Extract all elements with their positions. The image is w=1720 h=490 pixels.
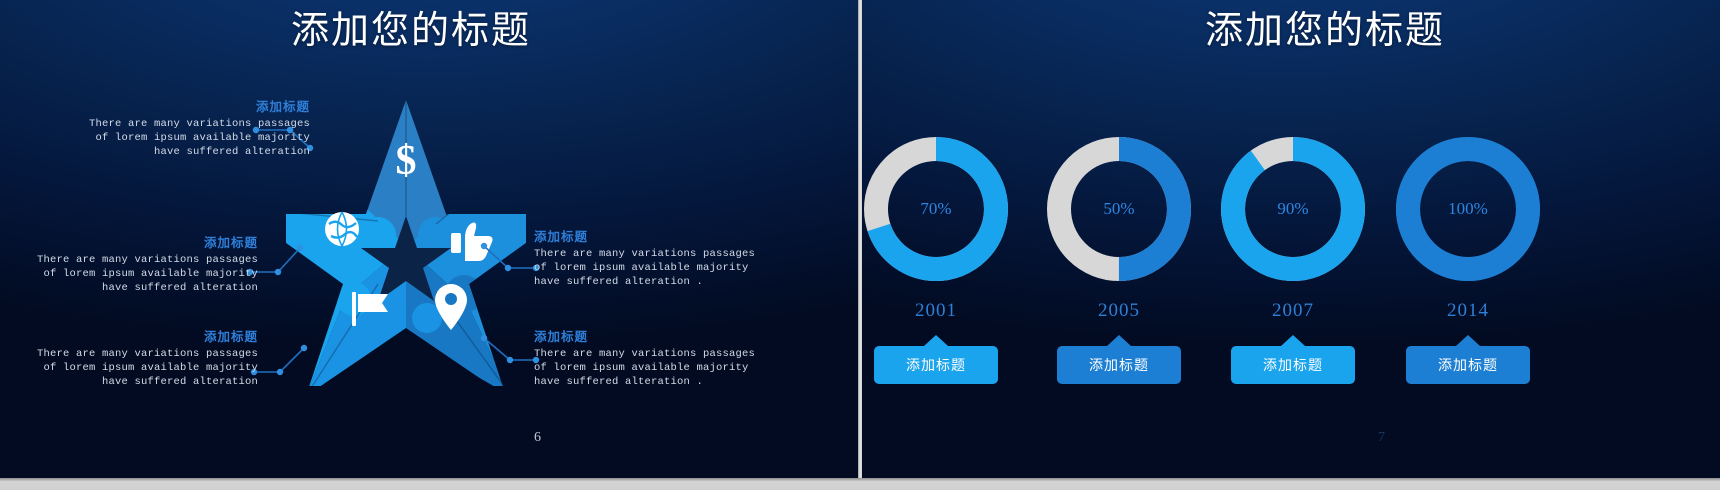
add-title-button[interactable]: 添加标题 bbox=[1231, 346, 1355, 384]
add-title-label: 添加标题 bbox=[1438, 355, 1498, 375]
callout-body: There are many variations passages of lo… bbox=[18, 348, 258, 390]
callout-heading: 添加标题 bbox=[18, 326, 258, 345]
donut-year-label: 2001 bbox=[862, 300, 1022, 322]
add-title-label: 添加标题 bbox=[906, 355, 966, 375]
slide-deck: 添加您的标题 bbox=[0, 0, 1720, 490]
add-title-button[interactable]: 添加标题 bbox=[1057, 346, 1181, 384]
callout-body: There are many variations passages of lo… bbox=[534, 248, 784, 290]
callout-body: There are many variations passages of lo… bbox=[534, 348, 784, 390]
slide-star-puzzle: 添加您的标题 bbox=[0, 0, 858, 478]
page-title: 添加您的标题 bbox=[896, 6, 1720, 57]
callout-bottom-right: 添加标题 There are many variations passages … bbox=[534, 326, 784, 390]
callout-top-left: 添加标题 There are many variations passages … bbox=[50, 96, 310, 160]
donut-group-2007: 90% 2007 添加标题 bbox=[1207, 130, 1379, 384]
deck-bottom-bar bbox=[0, 478, 1720, 490]
callout-heading: 添加标题 bbox=[534, 326, 784, 345]
donut-year-label: 2007 bbox=[1207, 300, 1379, 322]
donut-value-label: 90% bbox=[1214, 130, 1372, 288]
donut-chart: 90% bbox=[1214, 130, 1372, 288]
callout-mid-left: 添加标题 There are many variations passages … bbox=[18, 232, 258, 296]
donut-group-2014: 100% 2014 添加标题 bbox=[1382, 130, 1554, 384]
donut-chart: 100% bbox=[1389, 130, 1547, 288]
star-puzzle-graphic: $ bbox=[286, 96, 526, 386]
add-title-label: 添加标题 bbox=[1263, 355, 1323, 375]
donut-year-label: 2005 bbox=[1033, 300, 1205, 322]
donut-year-label: 2014 bbox=[1382, 300, 1554, 322]
callout-mid-right: 添加标题 There are many variations passages … bbox=[534, 226, 784, 290]
slide-divider bbox=[858, 0, 862, 478]
donut-value-label: 50% bbox=[1040, 130, 1198, 288]
slide-donut-timeline: 添加您的标题 70% 2001 添加标题 50% bbox=[862, 0, 1720, 478]
globe-icon bbox=[325, 212, 359, 246]
dollar-icon: $ bbox=[396, 138, 417, 184]
callout-body: There are many variations passages of lo… bbox=[18, 254, 258, 296]
donut-value-label: 100% bbox=[1389, 130, 1547, 288]
callout-body: There are many variations passages of lo… bbox=[50, 118, 310, 160]
star-puzzle-svg: $ bbox=[286, 96, 526, 386]
add-title-button[interactable]: 添加标题 bbox=[874, 346, 998, 384]
page-number: 7 bbox=[1378, 430, 1385, 446]
donut-group-2005: 50% 2005 添加标题 bbox=[1033, 130, 1205, 384]
callout-heading: 添加标题 bbox=[18, 232, 258, 251]
donut-chart: 70% bbox=[862, 130, 1015, 288]
callout-bottom-left: 添加标题 There are many variations passages … bbox=[18, 326, 258, 390]
add-title-label: 添加标题 bbox=[1089, 355, 1149, 375]
callout-heading: 添加标题 bbox=[50, 96, 310, 115]
page-number: 6 bbox=[534, 430, 541, 446]
add-title-button[interactable]: 添加标题 bbox=[1406, 346, 1530, 384]
donut-value-label: 70% bbox=[862, 130, 1015, 288]
donut-chart: 50% bbox=[1040, 130, 1198, 288]
page-title: 添加您的标题 bbox=[0, 6, 840, 57]
donut-group-2001: 70% 2001 添加标题 bbox=[862, 130, 1022, 384]
callout-heading: 添加标题 bbox=[534, 226, 784, 245]
